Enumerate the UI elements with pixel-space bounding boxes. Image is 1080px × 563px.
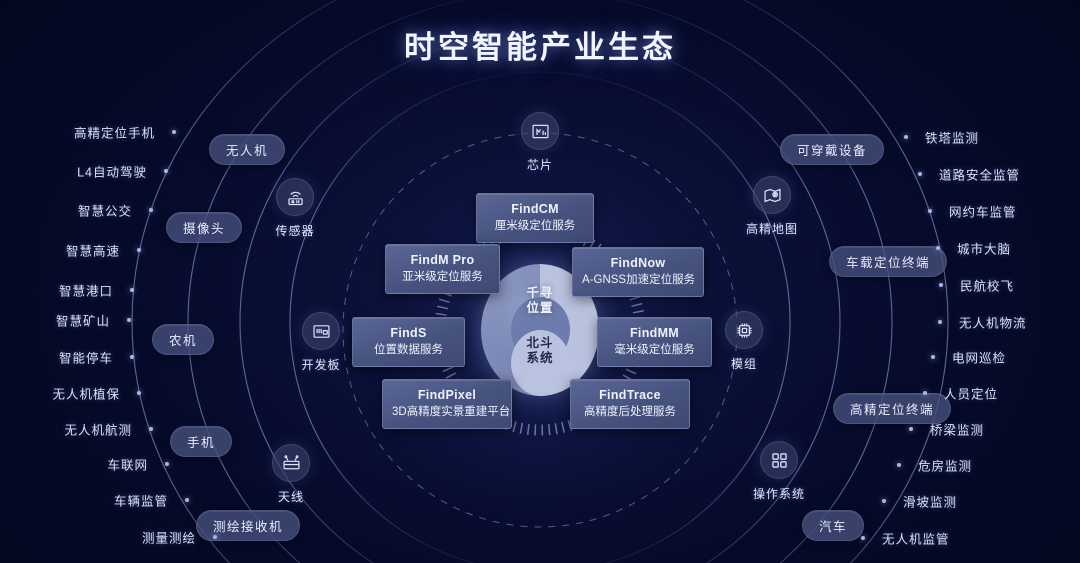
service-box-findnow[interactable]: FindNowA-GNSS加速定位服务 <box>572 247 704 297</box>
service-name: FindCM <box>486 201 584 217</box>
leaf-label-left-5[interactable]: 智慧矿山 <box>56 311 110 330</box>
leaf-connector-dot <box>130 355 134 359</box>
leaf-connector-dot <box>137 248 141 252</box>
grid-apps-icon <box>760 441 798 479</box>
ring-node-devboard[interactable]: 开发板 <box>275 312 367 373</box>
leaf-label-left-9[interactable]: 车联网 <box>107 455 148 474</box>
leaf-connector-dot <box>137 391 141 395</box>
leaf-connector-dot <box>936 246 940 250</box>
leaf-connector-dot <box>939 283 943 287</box>
infographic-canvas: 时空智能产业生态 <box>0 0 1080 563</box>
service-box-finds[interactable]: FindS位置数据服务 <box>352 317 465 367</box>
service-description: 毫米级定位服务 <box>607 342 702 358</box>
leaf-label-left-0[interactable]: 高精定位手机 <box>74 123 155 142</box>
ring-node-label: 传感器 <box>249 222 341 239</box>
leaf-connector-dot <box>931 355 935 359</box>
leaf-connector-dot <box>213 535 217 539</box>
service-name: FindM Pro <box>395 252 490 268</box>
antenna-icon <box>272 444 310 482</box>
leaf-label-right-3[interactable]: 城市大脑 <box>957 239 1011 258</box>
leaf-connector-dot <box>928 209 932 213</box>
service-box-findcm[interactable]: FindCM厘米级定位服务 <box>476 193 594 243</box>
core-label-beidou: 北斗系统 <box>481 336 599 366</box>
ring-node-chip[interactable]: 芯片 <box>494 112 586 173</box>
ring-node-label: 芯片 <box>494 156 586 173</box>
leaf-label-left-6[interactable]: 智能停车 <box>59 348 113 367</box>
pill-phone[interactable]: 手机 <box>170 426 232 457</box>
ring-node-os[interactable]: 操作系统 <box>733 441 825 502</box>
service-description: A-GNSS加速定位服务 <box>582 272 694 288</box>
ring-node-label: 高精地图 <box>726 220 818 237</box>
leaf-label-left-7[interactable]: 无人机植保 <box>52 384 120 403</box>
leaf-label-left-4[interactable]: 智慧港口 <box>59 281 113 300</box>
pill-agri[interactable]: 农机 <box>152 324 214 355</box>
leaf-label-right-9[interactable]: 危房监测 <box>918 456 972 475</box>
leaf-label-right-5[interactable]: 无人机物流 <box>959 313 1027 332</box>
leaf-connector-dot <box>904 135 908 139</box>
service-name: FindMM <box>607 325 702 341</box>
leaf-label-right-8[interactable]: 桥梁监测 <box>930 420 984 439</box>
leaf-label-left-11[interactable]: 测量测绘 <box>142 528 196 547</box>
ring-node-label: 天线 <box>245 488 337 505</box>
service-name: FindPixel <box>392 387 502 403</box>
pill-veh-term[interactable]: 车载定位终端 <box>829 246 947 277</box>
leaf-label-right-6[interactable]: 电网巡检 <box>952 348 1006 367</box>
leaf-connector-dot <box>882 499 886 503</box>
leaf-connector-dot <box>149 427 153 431</box>
ring-node-label: 开发板 <box>275 356 367 373</box>
service-description: 3D高精度实景重建平台 <box>392 404 502 420</box>
sensor-icon <box>276 178 314 216</box>
service-description: 高精度后处理服务 <box>580 404 680 420</box>
service-description: 亚米级定位服务 <box>395 269 490 285</box>
leaf-connector-dot <box>923 391 927 395</box>
leaf-label-right-0[interactable]: 铁塔监测 <box>925 128 979 147</box>
ring-node-label: 操作系统 <box>733 485 825 502</box>
page-title: 时空智能产业生态 <box>0 22 1080 67</box>
leaf-label-left-3[interactable]: 智慧高速 <box>66 241 120 260</box>
leaf-label-right-2[interactable]: 网约车监管 <box>949 202 1017 221</box>
module-icon <box>725 311 763 349</box>
pill-car[interactable]: 汽车 <box>802 510 864 541</box>
leaf-label-left-1[interactable]: L4自动驾驶 <box>77 162 147 181</box>
leaf-label-right-7[interactable]: 人员定位 <box>944 384 998 403</box>
leaf-connector-dot <box>165 462 169 466</box>
pill-survey-rx[interactable]: 测绘接收机 <box>196 510 300 541</box>
leaf-label-right-1[interactable]: 道路安全监管 <box>939 165 1020 184</box>
service-name: FindNow <box>582 255 694 271</box>
leaf-connector-dot <box>130 288 134 292</box>
pill-wearable[interactable]: 可穿戴设备 <box>780 134 884 165</box>
leaf-label-right-10[interactable]: 滑坡监测 <box>903 492 957 511</box>
ring-node-sensor[interactable]: 传感器 <box>249 178 341 239</box>
leaf-connector-dot <box>172 130 176 134</box>
leaf-label-left-10[interactable]: 车辆监管 <box>114 491 168 510</box>
ring-node-module[interactable]: 模组 <box>698 311 790 372</box>
leaf-connector-dot <box>861 536 865 540</box>
ring-node-label: 模组 <box>698 355 790 372</box>
service-name: FindTrace <box>580 387 680 403</box>
service-description: 厘米级定位服务 <box>486 218 584 234</box>
leaf-label-left-2[interactable]: 智慧公交 <box>78 201 132 220</box>
leaf-connector-dot <box>127 318 131 322</box>
leaf-label-right-4[interactable]: 民航校飞 <box>960 276 1014 295</box>
service-box-findtrace[interactable]: FindTrace高精度后处理服务 <box>570 379 690 429</box>
service-name: FindS <box>362 325 455 341</box>
leaf-connector-dot <box>909 427 913 431</box>
chip-icon <box>521 112 559 150</box>
pill-camera[interactable]: 摄像头 <box>166 212 242 243</box>
service-box-findpixel[interactable]: FindPixel3D高精度实景重建平台 <box>382 379 512 429</box>
ring-node-hdmap[interactable]: 高精地图 <box>726 176 818 237</box>
ring-node-antenna[interactable]: 天线 <box>245 444 337 505</box>
leaf-connector-dot <box>164 169 168 173</box>
devboard-icon <box>302 312 340 350</box>
leaf-connector-dot <box>918 172 922 176</box>
leaf-connector-dot <box>185 498 189 502</box>
leaf-connector-dot <box>938 320 942 324</box>
pill-drone[interactable]: 无人机 <box>209 134 285 165</box>
service-box-findmm[interactable]: FindMM毫米级定位服务 <box>597 317 712 367</box>
leaf-label-right-11[interactable]: 无人机监管 <box>882 529 950 548</box>
map-pin-icon <box>753 176 791 214</box>
leaf-label-left-8[interactable]: 无人机航测 <box>64 420 132 439</box>
leaf-connector-dot <box>897 463 901 467</box>
leaf-connector-dot <box>149 208 153 212</box>
service-box-findmpro[interactable]: FindM Pro亚米级定位服务 <box>385 244 500 294</box>
service-description: 位置数据服务 <box>362 342 455 358</box>
